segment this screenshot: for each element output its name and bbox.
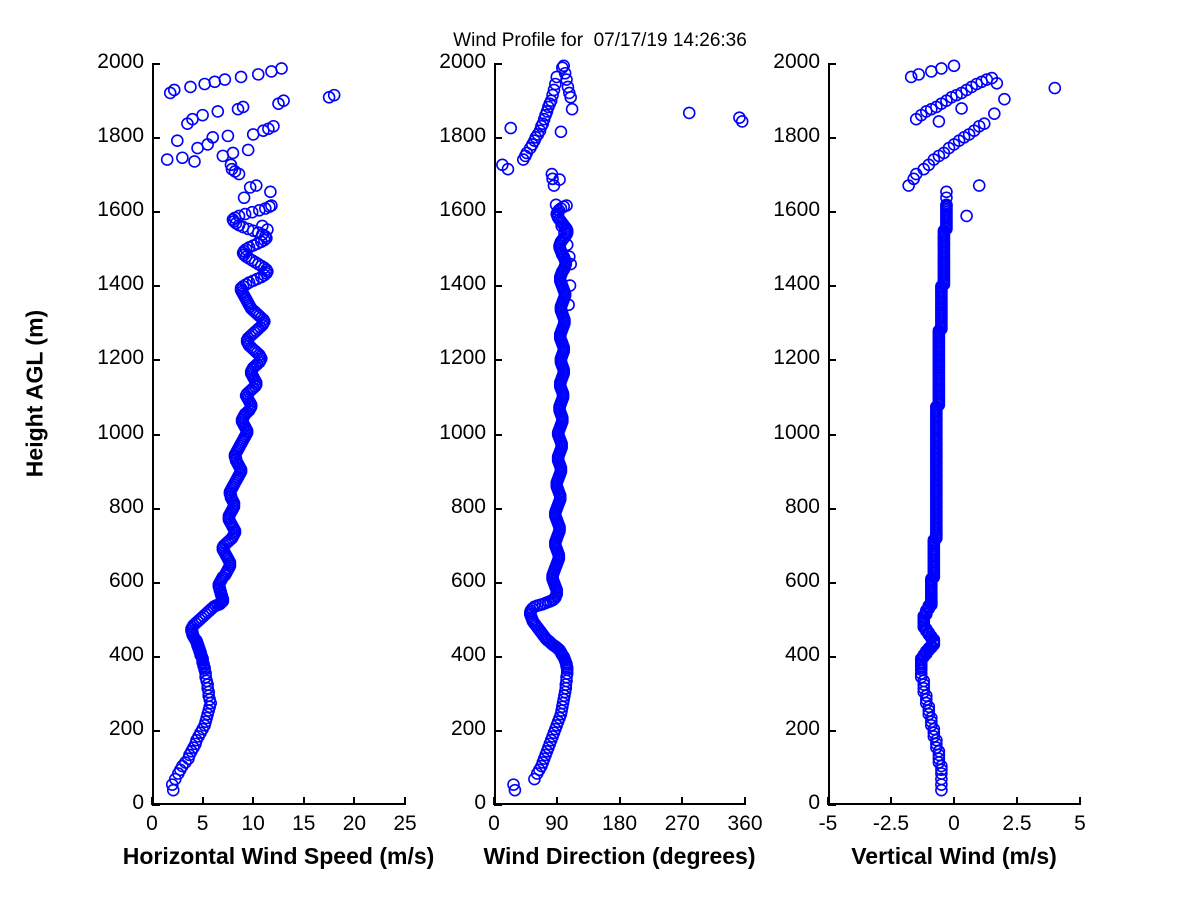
data-point [999,94,1010,105]
data-point [185,81,196,92]
x-axis-tick-label: 5 [1030,812,1130,836]
data-point [209,76,220,87]
y-axis-tick-label: 600 [398,569,486,593]
data-point [247,207,258,218]
y-axis-tick-label: 1000 [398,421,486,445]
y-axis-tick-label: 800 [732,495,820,519]
data-point [961,210,972,221]
data-point [266,66,277,77]
panel-horizontal-wind-speed: 0200400600800100012001400160018002000051… [152,64,405,805]
data-point [974,180,985,191]
data-point [199,79,210,90]
data-point [684,107,695,118]
y-axis-tick-label: 1000 [56,421,144,445]
x-axis-tick-label: 25 [355,812,455,836]
data-point [936,63,947,74]
y-axis-tick-label: 1600 [398,198,486,222]
data-point [222,130,233,141]
y-axis-tick-label: 800 [398,495,486,519]
y-axis-tick-label: 200 [56,717,144,741]
x-axis-label: Vertical Wind (m/s) [734,843,1174,870]
y-axis-tick-label: 1000 [732,421,820,445]
data-point [197,110,208,121]
y-axis-tick-label: 1200 [732,346,820,370]
y-axis-tick-label: 1400 [56,272,144,296]
panel-vertical-wind: 0200400600800100012001400160018002000-5-… [828,64,1080,805]
y-axis-tick-label: 200 [732,717,820,741]
data-point [212,106,223,117]
data-point [265,186,276,197]
y-axis-tick-label: 400 [56,643,144,667]
y-axis-tick-label: 800 [56,495,144,519]
data-point [245,182,256,193]
y-axis-tick-label: 200 [398,717,486,741]
data-point [240,209,251,220]
y-axis-tick-label: 2000 [732,50,820,74]
y-axis-tick-label: 1800 [56,124,144,148]
data-point [989,108,1000,119]
data-point [177,152,188,163]
data-point [1049,83,1060,94]
data-point [217,150,228,161]
y-axis-tick-label: 600 [56,569,144,593]
y-axis-tick-label: 2000 [56,50,144,74]
y-axis-tick-label: 400 [732,643,820,667]
data-point [956,103,967,114]
y-axis-tick-label: 1400 [732,272,820,296]
y-axis-tick-label: 1200 [398,346,486,370]
data-point [949,60,960,71]
y-axis-tick-label: 1800 [732,124,820,148]
y-axis-label: Height AGL (m) [22,264,49,524]
data-point [913,69,924,80]
data-point [734,112,745,123]
data-point [236,71,247,82]
data-point [189,156,200,167]
data-point [276,63,287,74]
figure-canvas: Wind Profile for 07/17/19 14:26:36 Heigh… [0,0,1200,900]
data-point [933,116,944,127]
y-axis-tick-label: 1600 [56,198,144,222]
data-point [567,104,578,115]
data-point [243,144,254,155]
data-point [227,147,238,158]
data-point [239,192,250,203]
scatter-markers [818,54,1090,815]
scatter-markers [142,54,415,815]
scatter-markers [484,54,755,815]
figure-title: Wind Profile for 07/17/19 14:26:36 [0,30,1200,52]
data-point [162,154,173,165]
data-point [505,123,516,134]
y-axis-tick-label: 1200 [56,346,144,370]
panel-wind-direction: 0200400600800100012001400160018002000090… [494,64,745,805]
y-axis-tick-label: 1600 [732,198,820,222]
data-point [172,135,183,146]
y-axis-tick-label: 600 [732,569,820,593]
y-axis-tick-label: 400 [398,643,486,667]
data-point [219,74,230,85]
data-point [906,71,917,82]
y-axis-tick-label: 1800 [398,124,486,148]
data-point [555,126,566,137]
y-axis-tick-label: 1400 [398,272,486,296]
y-axis-tick-label: 2000 [398,50,486,74]
data-point [253,69,264,80]
data-point [561,74,572,85]
